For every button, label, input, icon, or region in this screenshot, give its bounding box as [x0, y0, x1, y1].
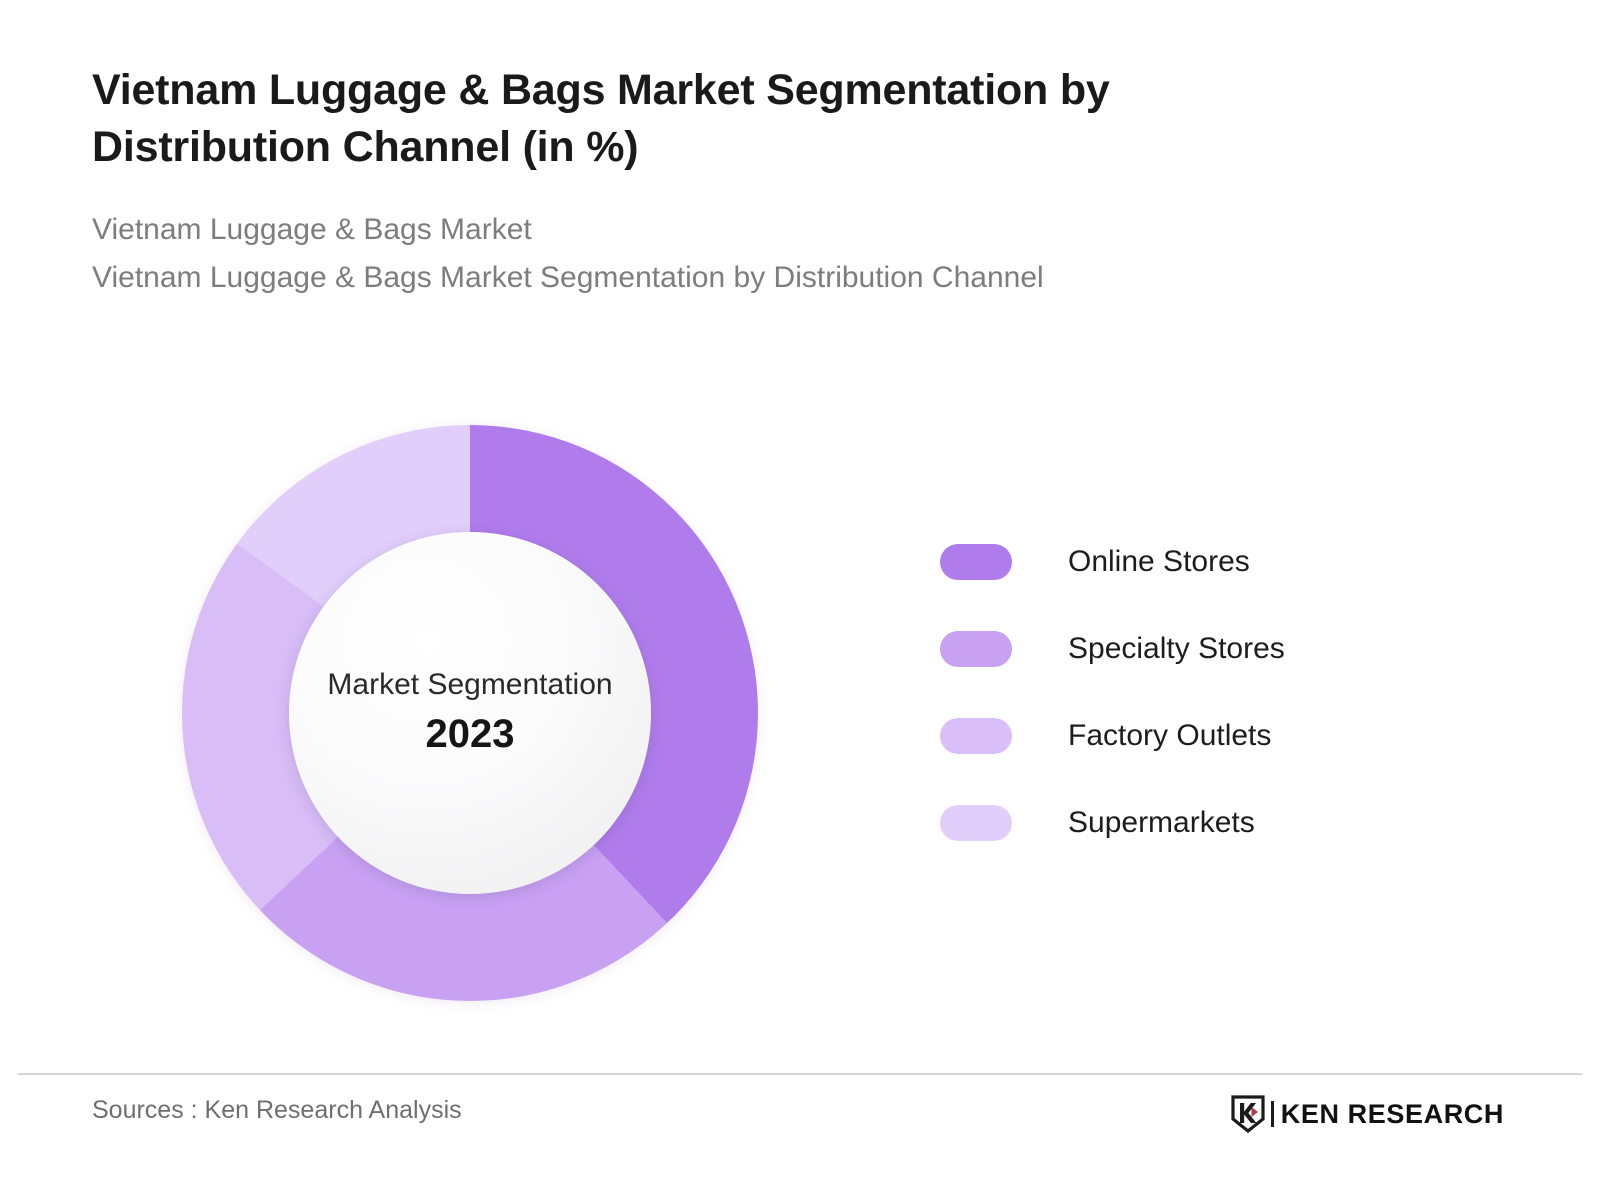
donut-center: Market Segmentation 2023: [289, 532, 651, 894]
brand-logo: KEN RESEARCH: [1231, 1094, 1504, 1134]
brand-name: KEN RESEARCH: [1281, 1099, 1504, 1130]
legend-swatch-icon: [940, 631, 1012, 667]
subtitle-line-1: Vietnam Luggage & Bags Market: [92, 206, 1352, 253]
ken-research-shield-icon: [1231, 1095, 1265, 1133]
legend-label: Online Stores: [1068, 545, 1250, 579]
brand-separator: [1271, 1101, 1274, 1127]
page-title: Vietnam Luggage & Bags Market Segmentati…: [92, 62, 1322, 176]
subtitle-line-2: Vietnam Luggage & Bags Market Segmentati…: [92, 254, 1352, 301]
legend-label: Specialty Stores: [1068, 632, 1285, 666]
legend-item[interactable]: Factory Outlets: [940, 692, 1420, 779]
source-note: Sources : Ken Research Analysis: [92, 1096, 462, 1125]
legend-swatch-icon: [940, 718, 1012, 754]
legend-label: Supermarkets: [1068, 806, 1255, 840]
legend-swatch-icon: [940, 544, 1012, 580]
slide-canvas: Vietnam Luggage & Bags Market Segmentati…: [0, 0, 1600, 1200]
legend-item[interactable]: Supermarkets: [940, 779, 1420, 866]
donut-center-label: Market Segmentation: [327, 667, 612, 703]
legend-item[interactable]: Specialty Stores: [940, 605, 1420, 692]
donut-chart: Market Segmentation 2023: [182, 425, 758, 1001]
chart-legend: Online StoresSpecialty StoresFactory Out…: [940, 518, 1420, 866]
legend-swatch-icon: [940, 805, 1012, 841]
donut-center-year: 2023: [426, 709, 515, 759]
legend-label: Factory Outlets: [1068, 719, 1271, 753]
footer-divider: [18, 1073, 1582, 1075]
chart-area: Market Segmentation 2023 Online StoresSp…: [0, 400, 1600, 1040]
subtitle-block: Vietnam Luggage & Bags Market Vietnam Lu…: [92, 206, 1352, 301]
header: Vietnam Luggage & Bags Market Segmentati…: [92, 62, 1352, 301]
legend-item[interactable]: Online Stores: [940, 518, 1420, 605]
